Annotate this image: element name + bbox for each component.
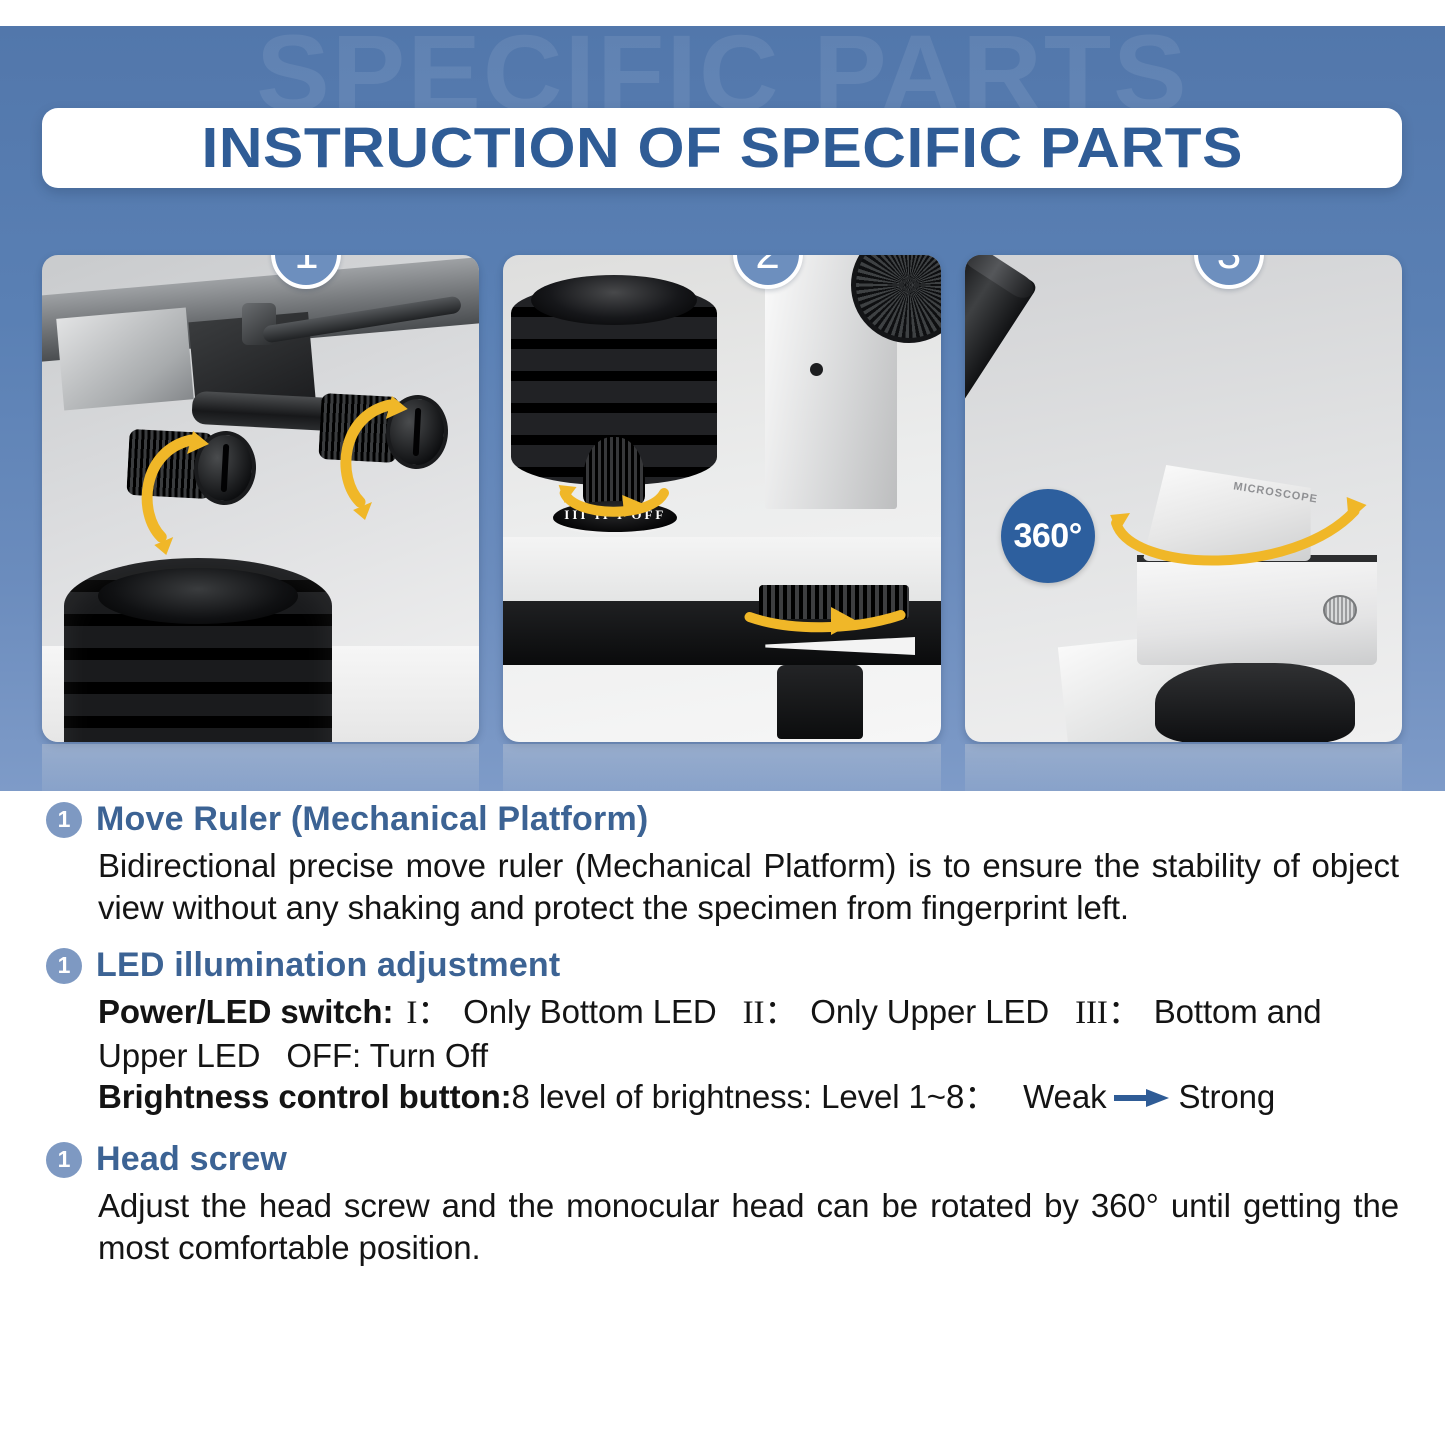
section-body-move-ruler: Bidirectional precise move ruler (Mechan… (46, 845, 1399, 928)
brightness-levels-text: 8 level of brightness: Level 1~8： (512, 1078, 998, 1115)
section-title-head-screw: Head screw (96, 1140, 287, 1179)
base-plate (503, 665, 940, 742)
option-two-text: Only Upper LED (810, 993, 1049, 1030)
section-head-screw: 1 Head screw Adjust the head screw and t… (46, 1140, 1399, 1268)
colon-one: ： (417, 993, 450, 1030)
reflection-1 (42, 744, 479, 791)
rotation-360-badge: 360° (1001, 489, 1095, 583)
page-title: INSTRUCTION OF SPECIFIC PARTS (201, 115, 1242, 181)
arrow-head-icon (559, 485, 577, 503)
hero-banner: SPECIFIC PARTS INSTRUCTION OF SPECIFIC P… (0, 26, 1445, 791)
section-move-ruler: 1 Move Ruler (Mechanical Platform) Bidir… (46, 800, 1399, 928)
option-one-text: Only Bottom LED (463, 993, 716, 1030)
infographic-page: SPECIFIC PARTS INSTRUCTION OF SPECIFIC P… (0, 0, 1445, 1445)
section-header: 1 Move Ruler (Mechanical Platform) (46, 800, 1399, 839)
arrow-head-icon (154, 537, 173, 555)
section-led-illumination: 1 LED illumination adjustment Power/LED … (46, 946, 1399, 1122)
right-arrow-icon (1114, 1077, 1170, 1119)
power-switch-line: Power/LED switch:I：Only Bottom LEDII：Onl… (98, 991, 1399, 1076)
photo-panel-mechanical-stage[interactable]: 1 (42, 255, 479, 742)
section-badge-2: 1 (46, 948, 82, 984)
brightness-label: Brightness control button: (98, 1078, 512, 1115)
objective-nosepiece (1155, 663, 1355, 742)
arrow-head-icon (1346, 497, 1366, 521)
arrow-head-icon (1110, 513, 1130, 533)
power-switch-knob (583, 437, 645, 509)
section-title-move-ruler: Move Ruler (Mechanical Platform) (96, 800, 648, 839)
led-housing-top (531, 275, 697, 325)
numeral-one: I (406, 995, 417, 1031)
power-switch-dial: III II I OFF (553, 501, 677, 535)
section-badge-3: 1 (46, 1142, 82, 1178)
brightness-control-knob (759, 585, 909, 619)
colon-two: ： (764, 993, 797, 1030)
option-off-text: OFF: Turn Off (286, 1037, 488, 1074)
power-switch-label: Power/LED switch: (98, 993, 393, 1030)
screw-slot-icon (413, 408, 421, 456)
base-foot (777, 665, 863, 739)
section-body-led-illumination: Power/LED switch:I：Only Bottom LEDII：Onl… (46, 991, 1399, 1122)
section-title-led-illumination: LED illumination adjustment (96, 946, 560, 985)
numeral-two: II (743, 995, 765, 1031)
section-body-head-screw: Adjust the head screw and the monocular … (46, 1185, 1399, 1268)
post-dot-icon (810, 363, 823, 376)
reflection-3 (965, 744, 1402, 791)
title-plate: INSTRUCTION OF SPECIFIC PARTS (42, 108, 1402, 188)
panel-badge-3: 3 (1194, 255, 1264, 289)
photo-panel-head-rotation[interactable]: MICROSCOPE 360° 3 (965, 255, 1402, 742)
photo-panel-led-switch[interactable]: III II I OFF 2 (503, 255, 940, 742)
colon-three: ： (1108, 993, 1141, 1030)
photo-panel-row: 1 III II I OFF (42, 255, 1402, 742)
condenser-stack-top (98, 568, 298, 624)
numeral-three: III (1075, 995, 1108, 1031)
weak-label: Weak (1023, 1078, 1106, 1115)
arrow-head-icon (353, 502, 372, 520)
monocular-head (1143, 465, 1311, 561)
instructions-body: 1 Move Ruler (Mechanical Platform) Bidir… (0, 800, 1445, 1287)
section-header: 1 LED illumination adjustment (46, 946, 1399, 985)
panel-reflections (42, 744, 1402, 791)
screw-slot-icon (221, 444, 229, 492)
reflection-2 (503, 744, 940, 791)
head-screw-knob (1323, 595, 1357, 625)
section-header: 1 Head screw (46, 1140, 1399, 1179)
stage-metal-block (56, 308, 194, 411)
brightness-line: Brightness control button:8 level of bri… (98, 1076, 1399, 1122)
section-badge-1: 1 (46, 802, 82, 838)
strong-label: Strong (1178, 1078, 1275, 1115)
